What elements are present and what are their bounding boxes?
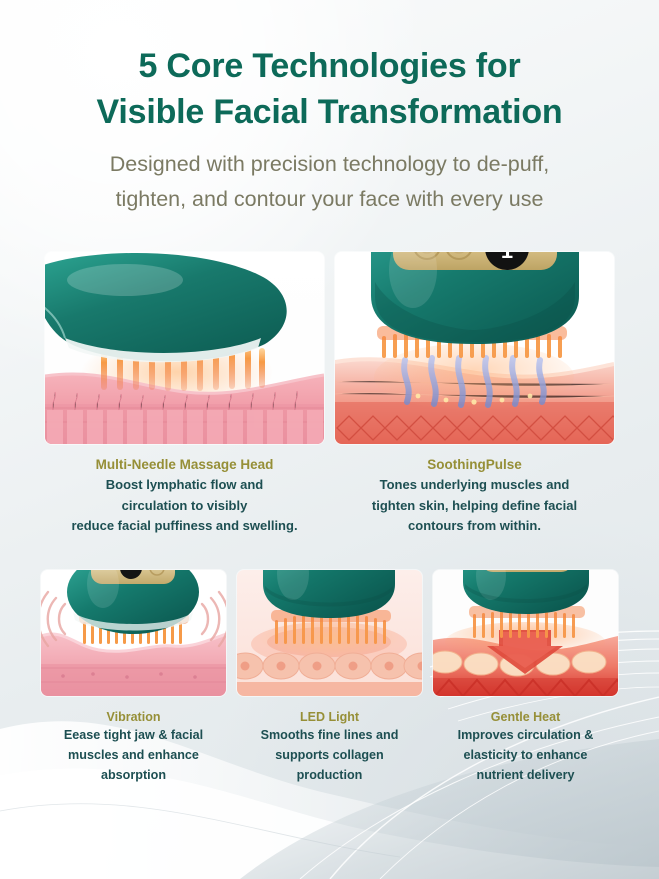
caption-soothing-pulse: SoothingPulse Tones underlying muscles a… [335,455,614,537]
caption-title: Multi-Needle Massage Head [47,455,322,475]
feature-card-multi-needle-massage-head: Multi-Needle Massage Head Boost lymphati… [45,252,324,537]
caption-vibration: Vibration Eease tight jaw & facial muscl… [41,708,226,786]
caption-title: LED Light [239,708,420,727]
page-title: 5 Core Technologies for Visible Facial T… [22,44,637,135]
multi-needle-massage-head-image [45,252,324,444]
feature-card-led-light: 3 LED Light Smooths fine lines and suppo… [237,570,422,786]
led-light-image: 3 [237,570,422,696]
caption-title: Gentle Heat [435,708,616,727]
subtitle-line-1: Designed with precision technology to de… [110,152,549,176]
caption-body: Improves circulation & elasticity to enh… [435,726,616,785]
caption-body: Tones underlying muscles and tighten ski… [337,475,612,537]
caption-title: Vibration [43,708,224,727]
gentle-heat-image: 5 [433,570,618,696]
caption-title: SoothingPulse [337,455,612,475]
headline-line-1: 5 Core Technologies for [138,47,520,85]
soothing-pulse-image: 1 [335,252,614,444]
feature-card-vibration: Vibration Eease tight jaw & facial muscl… [41,570,226,786]
feature-row-top: Multi-Needle Massage Head Boost lymphati… [0,252,659,537]
caption-body: Smooths fine lines and supports collagen… [239,726,420,785]
feature-row-bottom: Vibration Eease tight jaw & facial muscl… [0,570,659,786]
caption-led-light: LED Light Smooths fine lines and support… [237,708,422,786]
feature-card-soothing-pulse: 1 SoothingPulse Tones underlying muscles… [335,252,614,537]
headline-line-2: Visible Facial Transformation [97,93,563,131]
vibration-image [41,570,226,696]
header: 5 Core Technologies for Visible Facial T… [0,0,659,217]
caption-gentle-heat: Gentle Heat Improves circulation & elast… [433,708,618,786]
device-display-digit: 1 [501,252,513,263]
subtitle-line-2: tighten, and contour your face with ever… [116,187,544,211]
caption-body: Boost lymphatic flow and circulation to … [47,475,322,537]
caption-multi-needle-massage-head: Multi-Needle Massage Head Boost lymphati… [45,455,324,537]
feature-card-gentle-heat: 5 Gentle Heat Improves circulation & ela… [433,570,618,786]
page-subtitle: Designed with precision technology to de… [40,147,619,217]
caption-body: Eease tight jaw & facial muscles and enh… [43,726,224,785]
